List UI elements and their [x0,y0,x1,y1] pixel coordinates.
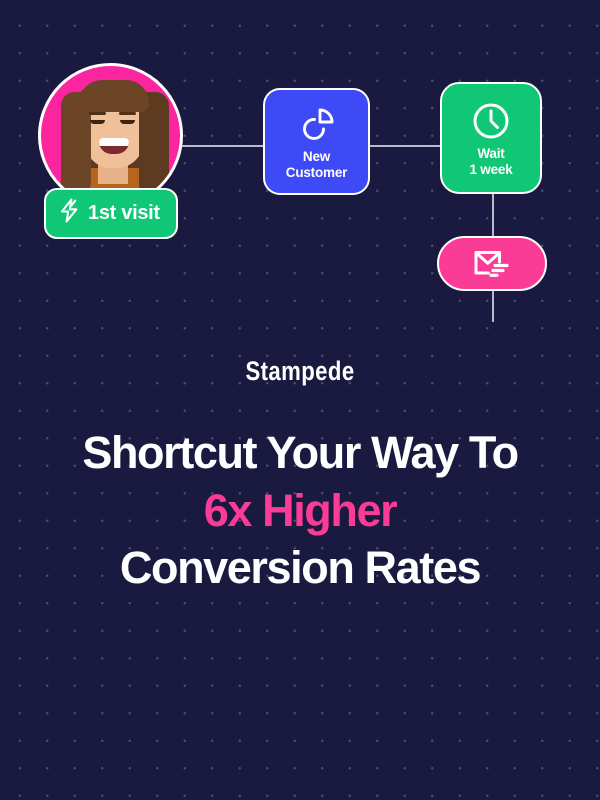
headline-line-2-accent: 6x Higher [0,482,600,540]
avatar [38,63,183,208]
avatar-eye-left [90,120,105,124]
headline-line-3: Conversion Rates [0,539,600,597]
automation-flow-diagram: 1st visit New Customer Wait 1 week [0,0,600,340]
connector-wait-to-email [492,190,494,240]
flow-node-new-customer-label-line2: Customer [286,165,347,181]
avatar-hair-front [79,80,149,112]
lightning-bolt-icon [59,198,80,228]
avatar-eyebrow-right [119,112,136,115]
customer-avatar-group [38,63,183,208]
page-title: Shortcut Your Way To 6x Higher Conversio… [0,424,600,597]
headline-line-1: Shortcut Your Way To [0,424,600,482]
connector-new-customer-to-wait [370,145,440,147]
brand-name: Stampede [54,356,546,387]
clock-icon [469,99,513,143]
first-visit-badge-label: 1st visit [88,202,160,225]
avatar-teeth [99,138,129,146]
flow-node-new-customer[interactable]: New Customer [263,88,370,195]
pie-chart-icon [296,103,338,145]
email-envelope-icon [473,247,511,280]
flow-node-new-customer-label-line1: New [286,149,347,165]
connector-email-downstream [492,290,494,322]
flow-node-wait[interactable]: Wait 1 week [440,82,542,194]
connector-avatar-to-new-customer [178,145,263,147]
flow-node-email[interactable] [437,236,547,291]
first-visit-badge: 1st visit [44,188,178,239]
flow-node-wait-label-line2: 1 week [469,162,512,178]
avatar-eye-right [120,120,135,124]
flow-node-wait-label-line1: Wait [469,146,512,162]
avatar-eyebrow-left [89,112,106,115]
